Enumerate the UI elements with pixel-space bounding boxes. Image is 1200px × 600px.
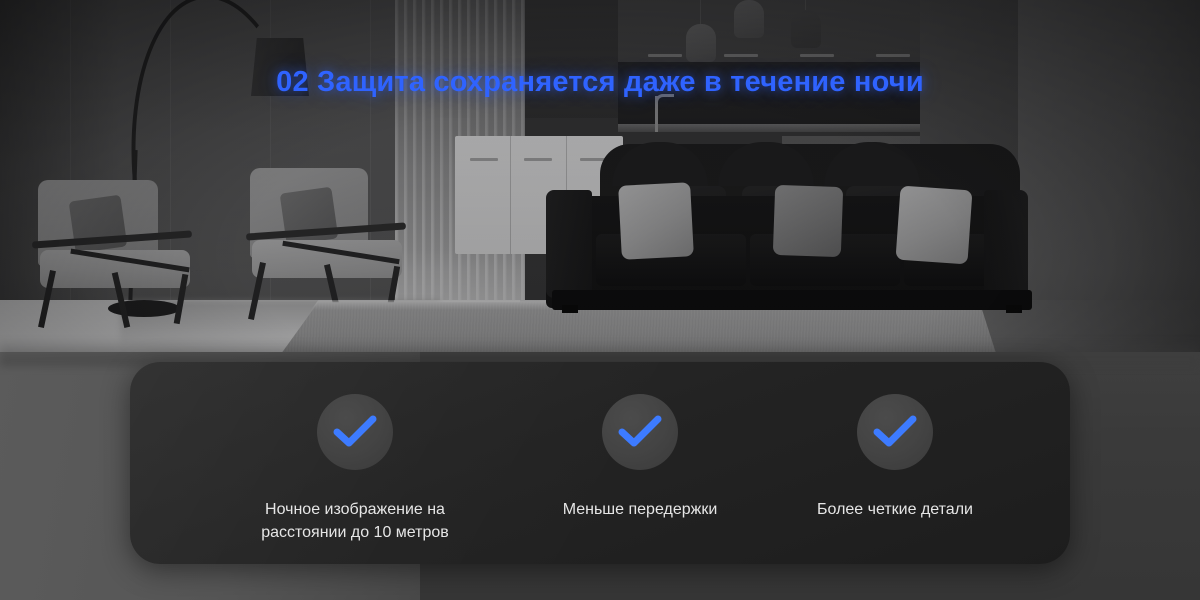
cabinet-handle <box>470 158 498 161</box>
feature-list: Ночное изображение на расстоянии до 10 м… <box>130 362 1070 564</box>
feature-item: Меньше передержки <box>520 394 760 521</box>
banner-title: 02 Защита сохраняется даже в течение ноч… <box>0 66 1200 99</box>
banner-root: 02 Защита сохраняется даже в течение ноч… <box>0 0 1200 600</box>
sofa-arm-left <box>546 190 592 298</box>
sofa-base <box>552 290 1032 310</box>
cabinet-handle <box>648 54 682 57</box>
feature-label: Ночное изображение на расстоянии до 10 м… <box>240 498 470 544</box>
check-icon <box>857 394 933 470</box>
sofa-arm-right <box>984 190 1028 298</box>
check-icon <box>317 394 393 470</box>
cabinet-handle <box>876 54 910 57</box>
cabinet-handle <box>800 54 834 57</box>
wall-seam <box>370 0 371 330</box>
countertop <box>618 124 920 132</box>
feature-item: Ночное изображение на расстоянии до 10 м… <box>190 394 520 544</box>
feature-panel: Ночное изображение на расстоянии до 10 м… <box>130 362 1070 564</box>
check-icon <box>602 394 678 470</box>
throw-pillow <box>896 186 973 265</box>
cabinet-handle <box>724 54 758 57</box>
cabinet-handle <box>524 158 552 161</box>
sofa-foot <box>1006 305 1022 313</box>
pendant-light <box>734 0 764 38</box>
pendant-light <box>686 24 716 62</box>
feature-item: Более четкие детали <box>780 394 1010 521</box>
throw-pillow <box>618 182 694 260</box>
pendant-cord <box>805 0 806 10</box>
feature-label: Более четкие детали <box>817 498 973 521</box>
pendant-light <box>791 10 821 48</box>
cabinet-seam <box>510 136 511 254</box>
throw-pillow <box>773 185 843 257</box>
pendant-cord <box>700 0 701 24</box>
sofa-foot <box>562 305 578 313</box>
feature-label: Меньше передержки <box>563 498 718 521</box>
